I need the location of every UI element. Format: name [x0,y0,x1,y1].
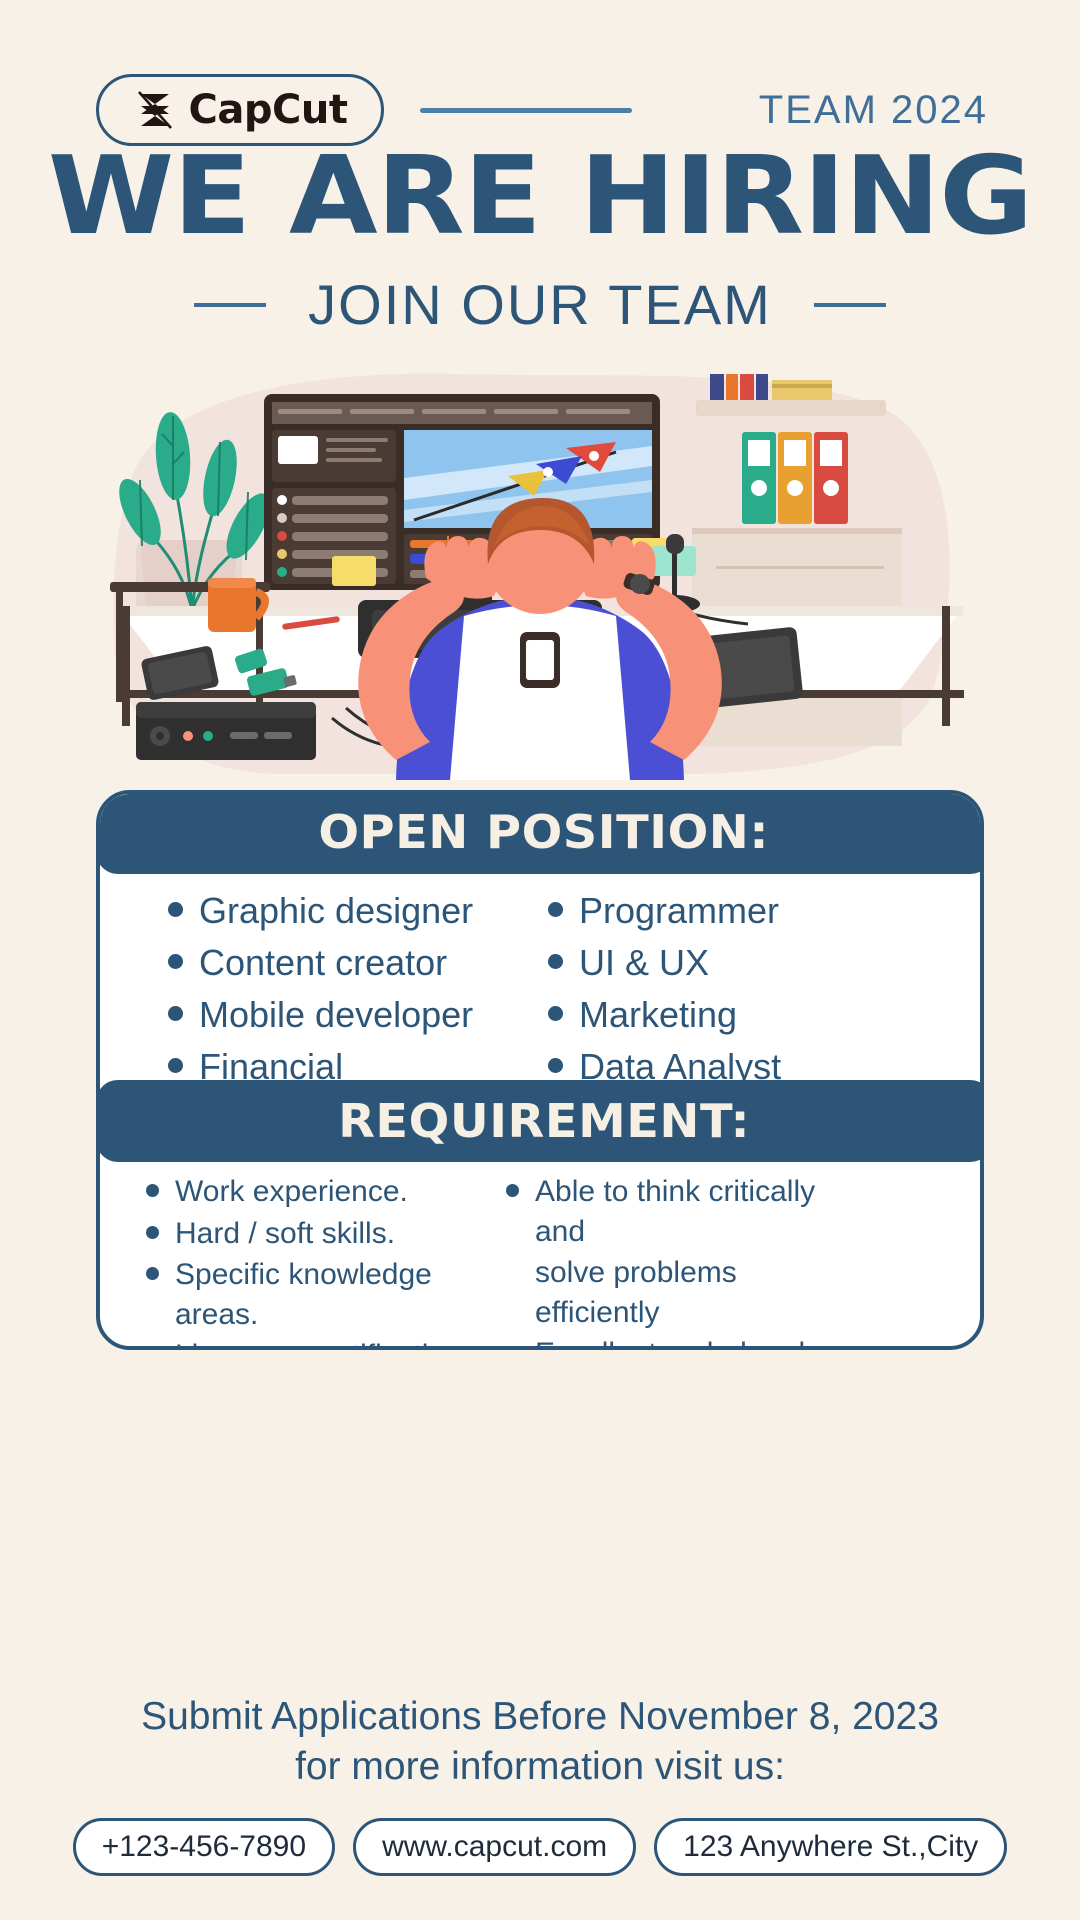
positions-requirements-card: OPEN POSITION: Graphic designer Content … [96,790,984,1350]
list-item: Marketing [548,992,878,1038]
header-divider-rule [420,108,632,113]
hiring-poster: CapCut TEAM 2024 WE ARE HIRING JOIN OUR … [0,0,1080,1920]
bullet-dot [506,1346,519,1350]
bullet-dot [168,1006,183,1021]
list-item-label: Content creator [199,940,447,986]
bullet-dot [146,1348,159,1350]
list-item: Able to think critically and [506,1172,866,1251]
open-position-header: OPEN POSITION: [96,790,984,874]
page-title: WE ARE HIRING [0,143,1080,251]
capcut-hourglass-icon [133,88,177,132]
list-item: Licenses, certifications, [146,1336,498,1350]
contact-address[interactable]: 123 Anywhere St.,City [654,1818,1007,1876]
list-item: Hard / soft skills. [146,1214,498,1254]
deadline-line-2: for more information visit us: [0,1742,1080,1792]
bullet-dot [548,902,563,917]
requirement-column-right: Able to think critically and solve probl… [506,1172,866,1350]
contact-website[interactable]: www.capcut.com [353,1818,636,1876]
team-year-label: TEAM 2024 [759,88,988,133]
list-item-label: Marketing [579,992,737,1038]
list-item-label: Able to think critically and [535,1172,866,1251]
bullet-dot [146,1184,159,1197]
list-item: Mobile developer [168,992,518,1038]
contact-pills: +123-456-7890 www.capcut.com 123 Anywher… [0,1818,1080,1876]
bullet-dot [168,954,183,969]
list-item: Excellent verbal and written [506,1334,866,1350]
requirement-lists: Work experience. Hard / soft skills. Spe… [100,1172,980,1350]
bullet-dot [146,1267,159,1280]
list-item-label: Licenses, certifications, [175,1336,485,1350]
contact-phone[interactable]: +123-456-7890 [73,1818,335,1876]
list-item-label: UI & UX [579,940,709,986]
bullet-dot [548,954,563,969]
list-item: Work experience. [146,1172,498,1212]
list-item-label: Graphic designer [199,888,473,934]
binders [742,432,848,524]
bullet-dot [506,1184,519,1197]
list-item: Graphic designer [168,888,518,934]
bullet-dot [168,1058,183,1073]
bullet-dot [146,1226,159,1239]
application-deadline: Submit Applications Before November 8, 2… [0,1692,1080,1792]
subtitle-row: JOIN OUR TEAM [0,272,1080,337]
list-item: UI & UX [548,940,878,986]
list-item-label-continuation: solve problems efficiently [506,1253,866,1332]
list-item-label: Specific knowledge areas. [175,1255,498,1334]
list-item-label: Programmer [579,888,779,934]
capcut-logo-text: CapCut [189,87,348,133]
list-item-label: Hard / soft skills. [175,1214,395,1254]
workspace-illustration [96,360,984,780]
bullet-dot [168,902,183,917]
bullet-dot [548,1058,563,1073]
list-item: Specific knowledge areas. [146,1255,498,1334]
sticky-note-yellow-2 [332,556,376,586]
list-item: Programmer [548,888,878,934]
requirement-header: REQUIREMENT: [96,1080,984,1162]
subtitle-dash-right [814,303,886,307]
list-item: Content creator [168,940,518,986]
pc-tower [136,702,316,760]
bullet-dot [548,1006,563,1021]
subtitle-dash-left [194,303,266,307]
list-item-label: Excellent verbal and written [535,1334,866,1350]
page-subtitle: JOIN OUR TEAM [308,272,772,337]
deadline-line-1: Submit Applications Before November 8, 2… [0,1692,1080,1742]
list-item-label: Mobile developer [199,992,473,1038]
list-item-label: Work experience. [175,1172,408,1212]
requirement-column-left: Work experience. Hard / soft skills. Spe… [146,1172,498,1350]
